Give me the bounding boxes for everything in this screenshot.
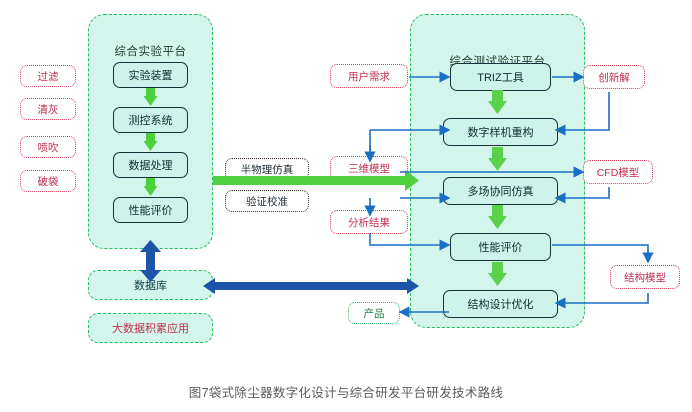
annotation-label: 过滤 (38, 69, 59, 84)
annotation-label: 验证校准 (246, 194, 288, 209)
annotation-dust-cleaning[interactable]: 清灰 (20, 98, 76, 120)
process-box-experiment-device[interactable]: 实验装置 (113, 62, 188, 88)
annotation-filtration[interactable]: 过滤 (20, 65, 76, 87)
database-label: 数据库 (134, 277, 167, 293)
process-box-label: 性能评价 (129, 202, 173, 218)
figure-caption: 图7袋式除尘器数字化设计与综合研发平台研发技术路线 (0, 382, 692, 401)
process-box-label: 多场协同仿真 (468, 183, 534, 199)
annotation-analysis-result[interactable]: 分析结果 (330, 210, 408, 234)
process-box-data-processing[interactable]: 数据处理 (113, 152, 188, 178)
process-box-label: TRIZ工具 (477, 69, 523, 85)
annotation-structure-model[interactable]: 结构模型 (610, 265, 680, 289)
diagram-canvas: 综合实验平台 实验装置 测控系统 数据处理 性能评价 综合测试验证平台 TRIZ… (0, 0, 692, 412)
right-platform: 综合测试验证平台 (410, 14, 585, 328)
left-platform-title: 综合实验平台 (89, 43, 212, 59)
annotation-label: 结构模型 (624, 270, 666, 285)
bigdata-label: 大数据积累应用 (112, 320, 189, 336)
database-right-platform-arrow (203, 278, 419, 294)
process-box-label: 结构设计优化 (468, 296, 534, 312)
database-box[interactable]: 数据库 (88, 270, 213, 300)
annotation-label: 喷吹 (38, 140, 59, 155)
bigdata-box[interactable]: 大数据积累应用 (88, 313, 213, 343)
process-box-multifield-simulation[interactable]: 多场协同仿真 (443, 177, 558, 205)
annotation-pulse-jet[interactable]: 喷吹 (20, 136, 76, 158)
annotation-label: 分析结果 (348, 215, 390, 230)
process-box-measure-control[interactable]: 测控系统 (113, 107, 188, 133)
process-box-performance-eval-left[interactable]: 性能评价 (113, 197, 188, 223)
annotation-label: CFD模型 (597, 165, 640, 180)
process-box-performance-eval-right[interactable]: 性能评价 (450, 233, 551, 261)
process-box-digital-prototype[interactable]: 数字样机重构 (443, 118, 558, 146)
process-box-structure-optimization[interactable]: 结构设计优化 (443, 290, 558, 318)
annotation-innovative-solution[interactable]: 创新解 (583, 65, 645, 89)
annotation-user-requirements[interactable]: 用户需求 (330, 64, 408, 88)
product-label: 产品 (364, 306, 385, 321)
process-box-label: 数据处理 (129, 157, 173, 173)
annotation-label: 半物理仿真 (241, 162, 294, 177)
product-box[interactable]: 产品 (348, 302, 400, 324)
annotation-3d-model[interactable]: 三维模型 (330, 156, 408, 180)
process-box-label: 实验装置 (129, 67, 173, 83)
annotation-label: 清灰 (38, 102, 59, 117)
annotation-label: 三维模型 (348, 161, 390, 176)
annotation-label: 破袋 (38, 174, 59, 189)
process-box-label: 测控系统 (129, 112, 173, 128)
annotation-cfd-model[interactable]: CFD模型 (583, 160, 653, 184)
annotation-label: 用户需求 (348, 69, 390, 84)
process-box-label: 性能评价 (479, 239, 523, 255)
process-box-triz-tool[interactable]: TRIZ工具 (450, 63, 551, 91)
process-box-label: 数字样机重构 (468, 124, 534, 140)
annotation-bag-rupture[interactable]: 破袋 (20, 170, 76, 192)
annotation-semi-physical-simulation[interactable]: 半物理仿真 (225, 158, 309, 180)
annotation-verification-calibration[interactable]: 验证校准 (225, 190, 309, 212)
annotation-label: 创新解 (598, 70, 630, 85)
